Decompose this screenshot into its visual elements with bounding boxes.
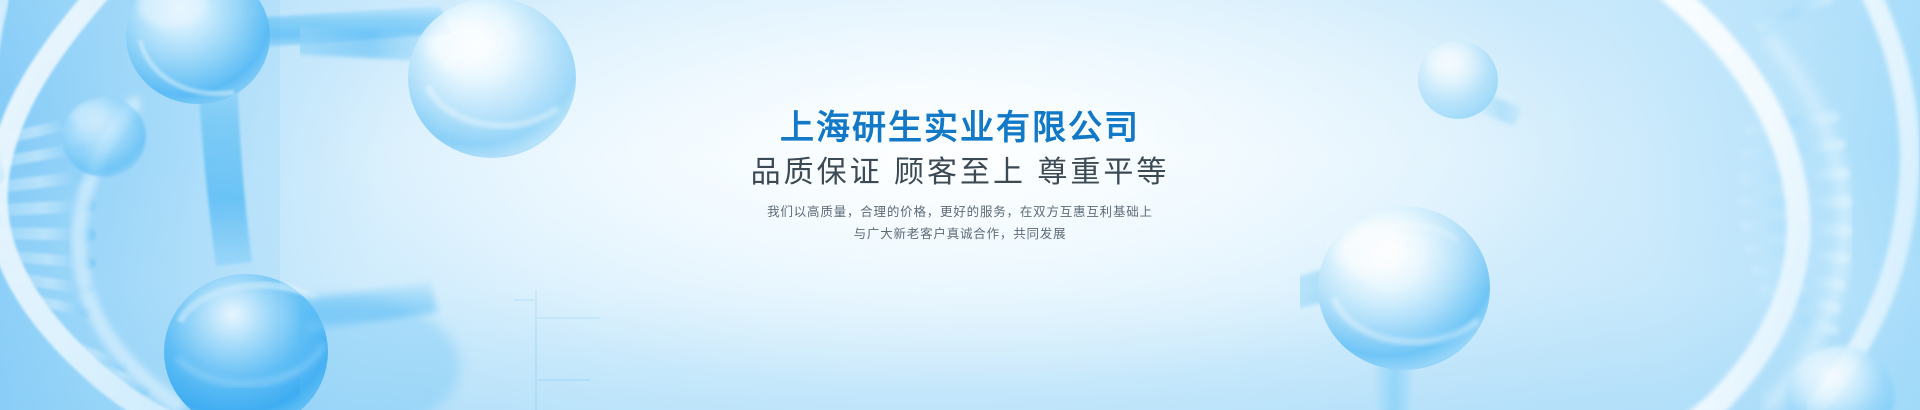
- molecule-bottom-left: [164, 274, 438, 410]
- company-hero-banner: 上海研生实业有限公司 品质保证 顾客至上 尊重平等 我们以高质量，合理的价格，更…: [0, 0, 1920, 410]
- company-name: 上海研生实业有限公司: [0, 108, 1920, 149]
- description-line-2: 与广大新老客户真诚合作，共同发展: [0, 224, 1920, 246]
- description-line-1: 我们以高质量，合理的价格，更好的服务，在双方互惠互利基础上: [0, 202, 1920, 224]
- molecule-sphere-corner-right: [1786, 346, 1894, 410]
- banner-text-block: 上海研生实业有限公司 品质保证 顾客至上 尊重平等 我们以高质量，合理的价格，更…: [0, 108, 1920, 246]
- glassware-silhouette: [514, 290, 600, 410]
- company-description: 我们以高质量，合理的价格，更好的服务，在双方互惠互利基础上 与广大新老客户真诚合…: [0, 202, 1920, 246]
- company-slogan: 品质保证 顾客至上 尊重平等: [0, 153, 1920, 193]
